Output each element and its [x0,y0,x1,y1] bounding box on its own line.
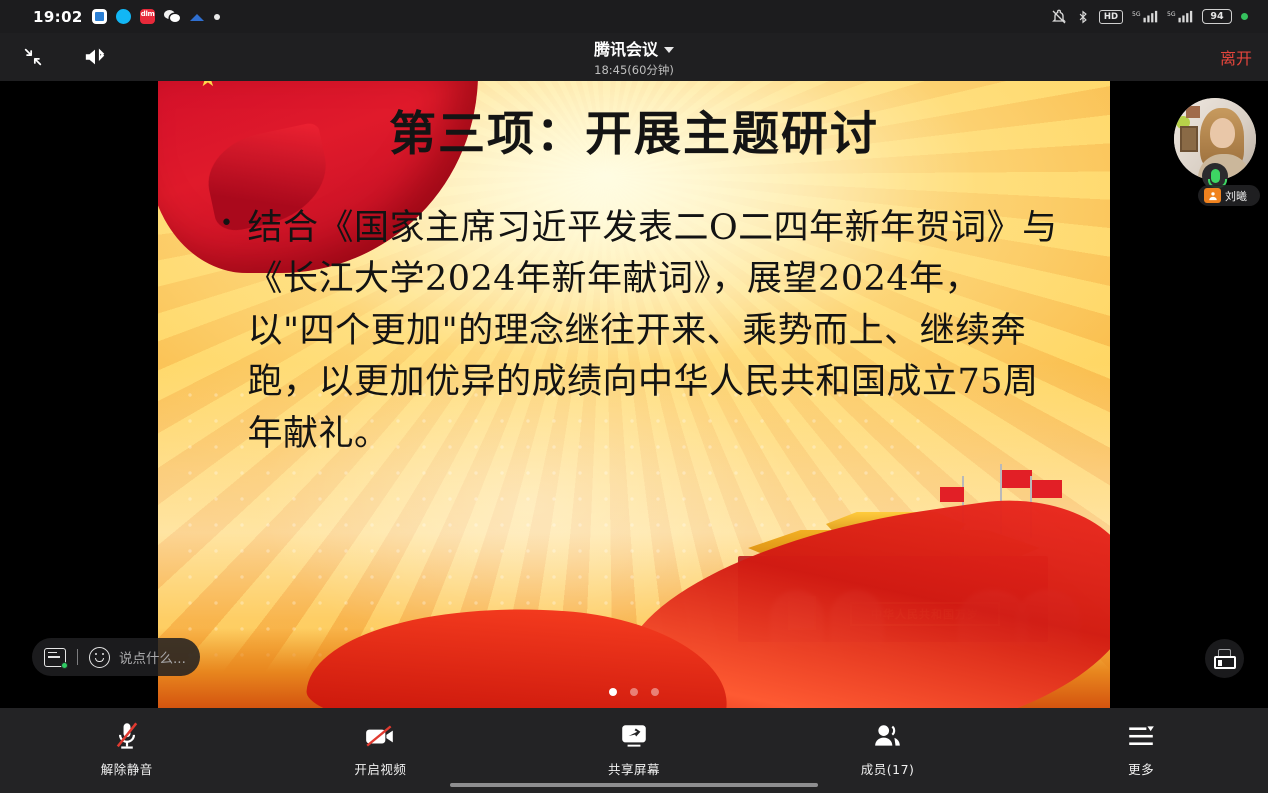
chatbar-divider [77,649,78,665]
red-flag-icon [1032,480,1062,498]
emoji-smiley-icon[interactable] [89,647,110,668]
avatar-face [1210,118,1235,148]
slide-page-indicator [158,688,1110,696]
system-status-bar: 19:02 HD 5G [0,0,1268,33]
participant-video-tile[interactable] [1174,98,1256,180]
slide-bullet-marker: • [220,203,233,460]
page-dot-1[interactable] [609,688,617,696]
shared-slide[interactable]: 中华人民共和国万岁 第三项：开展主题研讨 • 结合《国家主席习近平发表二O二四年… [158,81,1110,708]
slide-body-block: • 结合《国家主席习近平发表二O二四年新年贺词》与《长江大学2024年新年献词》… [220,203,1062,460]
slide-title: 第三项：开展主题研讨 [158,95,1110,164]
wechat-icon [164,10,181,23]
toolbar-item-start-video[interactable]: 开启视频 [254,708,508,793]
dlm-icon [140,9,155,24]
battery-level-label: 94 [1202,9,1232,24]
signal-5g-icon-2: 5G [1167,9,1193,25]
meeting-stage: 中华人民共和国万岁 第三项：开展主题研讨 • 结合《国家主席习近平发表二O二四年… [0,81,1268,708]
toolbar-label-start-video: 开启视频 [354,759,406,778]
meeting-header: 腾讯会议 18:45(60分钟) 离开 [0,33,1268,81]
camera-off-icon [364,721,396,751]
battery-indicator: 94 [1202,9,1232,24]
status-bar-left: 19:02 [0,8,220,26]
svg-text:5G: 5G [1132,11,1141,18]
hd-icon: HD [1099,10,1123,24]
meeting-title-button[interactable]: 腾讯会议 [594,36,674,60]
toolbar-item-more[interactable]: 更多 [1014,708,1268,793]
red-flag-icon [940,487,964,502]
more-menu-icon [1126,721,1156,751]
recording-dot-icon [1241,13,1248,20]
toolbar-label-share-screen: 共享屏幕 [608,759,660,778]
meeting-app-root: 19:02 HD 5G [0,0,1268,793]
collapse-arrows-icon[interactable] [16,40,50,74]
participant-name: 刘曦 [1225,188,1247,204]
meeting-toolbar: 解除静音 开启视频 共享屏幕 [0,708,1268,793]
toolbar-label-participants: 成员(17) [861,759,915,778]
speaker-bluetooth-icon[interactable] [78,40,112,74]
svg-text:5G: 5G [1167,11,1176,18]
avatar-wall-frame-small [1186,106,1200,118]
page-dot-2[interactable] [630,688,638,696]
silent-bell-icon [1051,9,1067,25]
avatar-wall-frame [1180,126,1198,152]
chat-input-bar[interactable]: 说点什么... [32,638,200,676]
status-bar-clock: 19:02 [33,8,83,26]
leave-meeting-button[interactable]: 离开 [1220,45,1268,69]
toolbar-item-participants[interactable]: 成员(17) [761,708,1015,793]
status-bar-right: HD 5G 5G 94 [1051,9,1268,25]
meeting-duration: 18:45(60分钟) [594,62,674,78]
home-indicator-bar[interactable] [450,783,818,787]
mountain-icon [190,11,205,22]
layout-switch-icon [1214,649,1236,669]
slide-body-text: 结合《国家主席习近平发表二O二四年新年贺词》与《长江大学2024年新年献词》，展… [247,203,1062,460]
participants-icon [873,721,903,751]
bluetooth-icon [1076,9,1090,25]
toolbar-label-unmute: 解除静音 [101,759,153,778]
red-flag-icon [1002,470,1032,488]
page-dot-3[interactable] [651,688,659,696]
meeting-header-center: 腾讯会议 18:45(60分钟) [0,33,1268,81]
signal-5g-icon: 5G [1132,9,1158,25]
layout-switch-button[interactable] [1205,639,1244,678]
chat-input-placeholder[interactable]: 说点什么... [119,647,186,667]
share-screen-icon [619,721,649,751]
chevron-down-icon [664,47,674,53]
chat-panel-icon[interactable] [44,648,66,667]
participant-name-chip: 刘曦 [1198,185,1260,206]
meeting-title: 腾讯会议 [594,36,658,60]
mic-muted-icon [113,721,141,751]
toolbar-item-unmute[interactable]: 解除静音 [0,708,254,793]
note-icon [92,9,107,24]
host-person-icon [1204,188,1221,203]
dot-icon [214,14,220,20]
meeting-header-left [0,40,112,74]
toolbar-item-share-screen[interactable]: 共享屏幕 [507,708,761,793]
toolbar-label-more: 更多 [1128,759,1154,778]
qq-icon [116,9,131,24]
